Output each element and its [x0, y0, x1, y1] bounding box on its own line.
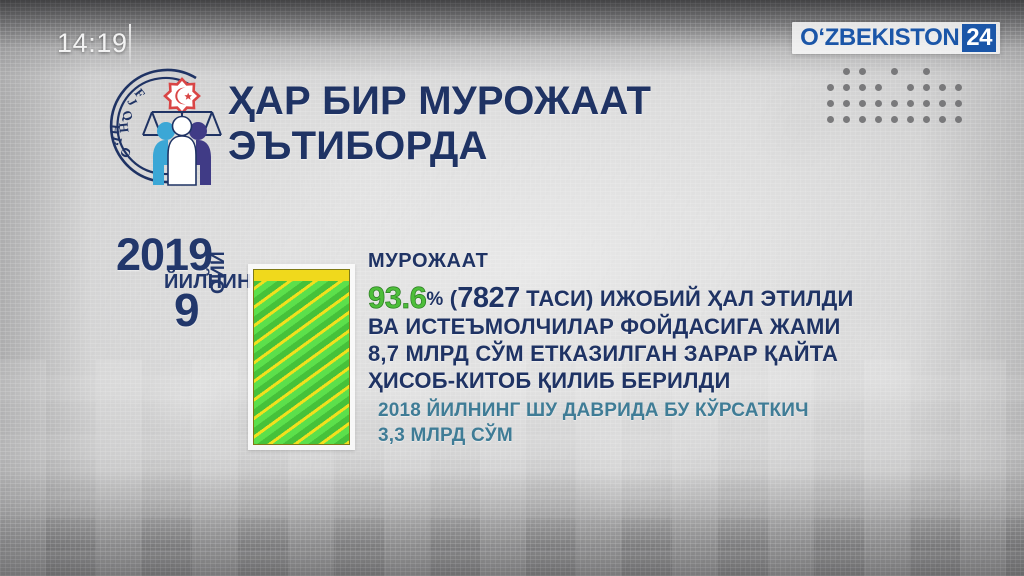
- chart-bar-frame: [253, 269, 350, 445]
- statistics-panel: МУРОЖААТ 93.6% (7827 ТАСИ) ИЖОБИЙ ҲАЛ ЭТ…: [368, 250, 968, 448]
- on-air-clock: 14:19: [57, 28, 128, 59]
- statistics-line-2: ВА ИСТЕЪМОЛЧИЛАР ФОЙДАСИГА ЖАМИ: [368, 313, 968, 340]
- statistics-percent-value: 93.6: [368, 280, 426, 315]
- program-title-line1: ҲАР БИР МУРОЖААТ: [228, 79, 651, 123]
- statistics-comparison: 2018 ЙИЛНИНГ ШУ ДАВРИДА БУ КЎРСАТКИЧ 3,3…: [378, 398, 968, 448]
- chart-bar-container: [248, 264, 355, 450]
- statistics-heading: МУРОЖААТ: [368, 250, 968, 272]
- channel-wordmark: O‘ZBEKISTON 24: [792, 22, 1000, 54]
- channel-name-text: O‘ZBEKISTON: [800, 24, 959, 52]
- svg-text:Q: Q: [119, 108, 136, 122]
- clock-divider: [129, 24, 131, 64]
- comparison-line-2: 3,3 МЛРД СЎМ: [378, 423, 968, 448]
- chart-bar-remainder-segment: [254, 270, 349, 281]
- people-group-icon: [153, 117, 211, 186]
- statistics-line-4: ҲИСОБ-КИТОБ ҚИЛИБ БЕРИЛДИ: [368, 367, 968, 394]
- broadcast-frame: 14:19 O‘ZBEKISTON 24 O ‘: [0, 0, 1024, 576]
- period-month-count: 9: [174, 287, 200, 333]
- program-seal-logo: O ‘ I H H Q J F: [96, 60, 228, 192]
- statistics-line-1: 93.6% (7827 ТАСИ) ИЖОБИЙ ҲАЛ ЭТИЛДИ: [368, 284, 968, 313]
- seal-icon: O ‘ I H H Q J F: [96, 60, 228, 192]
- statistics-absolute-count: 7827: [457, 282, 520, 314]
- dot-matrix-decoration: [822, 63, 1000, 127]
- comparison-line-1: 2018 ЙИЛНИНГ ШУ ДАВРИДА БУ КЎРСАТКИЧ: [378, 398, 968, 423]
- statistics-line-1-tail: ТАСИ) ИЖОБИЙ ҲАЛ ЭТИЛДИ: [526, 286, 853, 311]
- chart-bar-positive-segment: [254, 281, 349, 444]
- statistics-body: 93.6% (7827 ТАСИ) ИЖОБИЙ ҲАЛ ЭТИЛДИ ВА И…: [368, 284, 968, 394]
- svg-text:H: H: [116, 122, 132, 134]
- statistics-percent-sign: %: [426, 289, 443, 310]
- statistics-line-3: 8,7 МЛРД СЎМ ЕТКАЗИЛГАН ЗАРАР ҚАЙТА: [368, 340, 968, 367]
- page-title: ҲАР БИР МУРОЖААТ ЭЪТИБОРДА: [228, 79, 651, 169]
- channel-number-badge: 24: [962, 24, 996, 52]
- program-title-line2: ЭЪТИБОРДА: [228, 124, 651, 169]
- channel-logo: O‘ZBEKISTON 24: [792, 22, 1000, 127]
- period-month-label: ОЙИ: [209, 251, 228, 294]
